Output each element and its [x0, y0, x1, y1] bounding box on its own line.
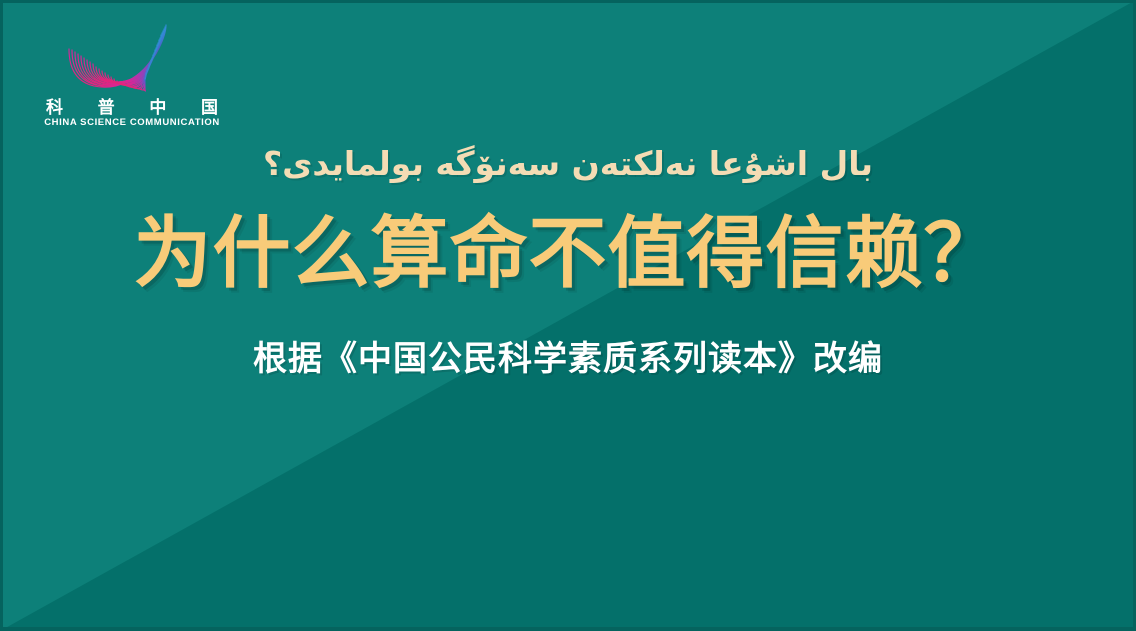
kepu-zhongguo-logo: 科 普 中 国 CHINA SCIENCE COMMUNICATION [44, 22, 220, 130]
uyghur-title: بال اشۇعا نەلكتەن سەنۆگە بولمايدى؟ [0, 142, 1136, 186]
logo-char-ke: 科 [46, 99, 63, 117]
page-title: 为什么算命不值得信赖？ [0, 202, 1136, 306]
title-card-slide: 科 普 中 国 CHINA SCIENCE COMMUNICATION بال … [0, 0, 1136, 631]
fan-wave-gradient-icon [60, 22, 200, 96]
logo-char-zhong: 中 [149, 99, 166, 117]
logo-char-pu: 普 [98, 99, 115, 117]
logo-char-guo: 国 [201, 99, 218, 117]
frame-border-bottom [0, 627, 1136, 631]
frame-border-top [0, 0, 1136, 3]
logo-chinese-name: 科 普 中 国 [44, 98, 220, 118]
frame-border-left [0, 0, 3, 631]
source-attribution: 根据《中国公民科学素质系列读本》改编 [0, 336, 1136, 382]
logo-english-name: CHINA SCIENCE COMMUNICATION [44, 117, 220, 128]
